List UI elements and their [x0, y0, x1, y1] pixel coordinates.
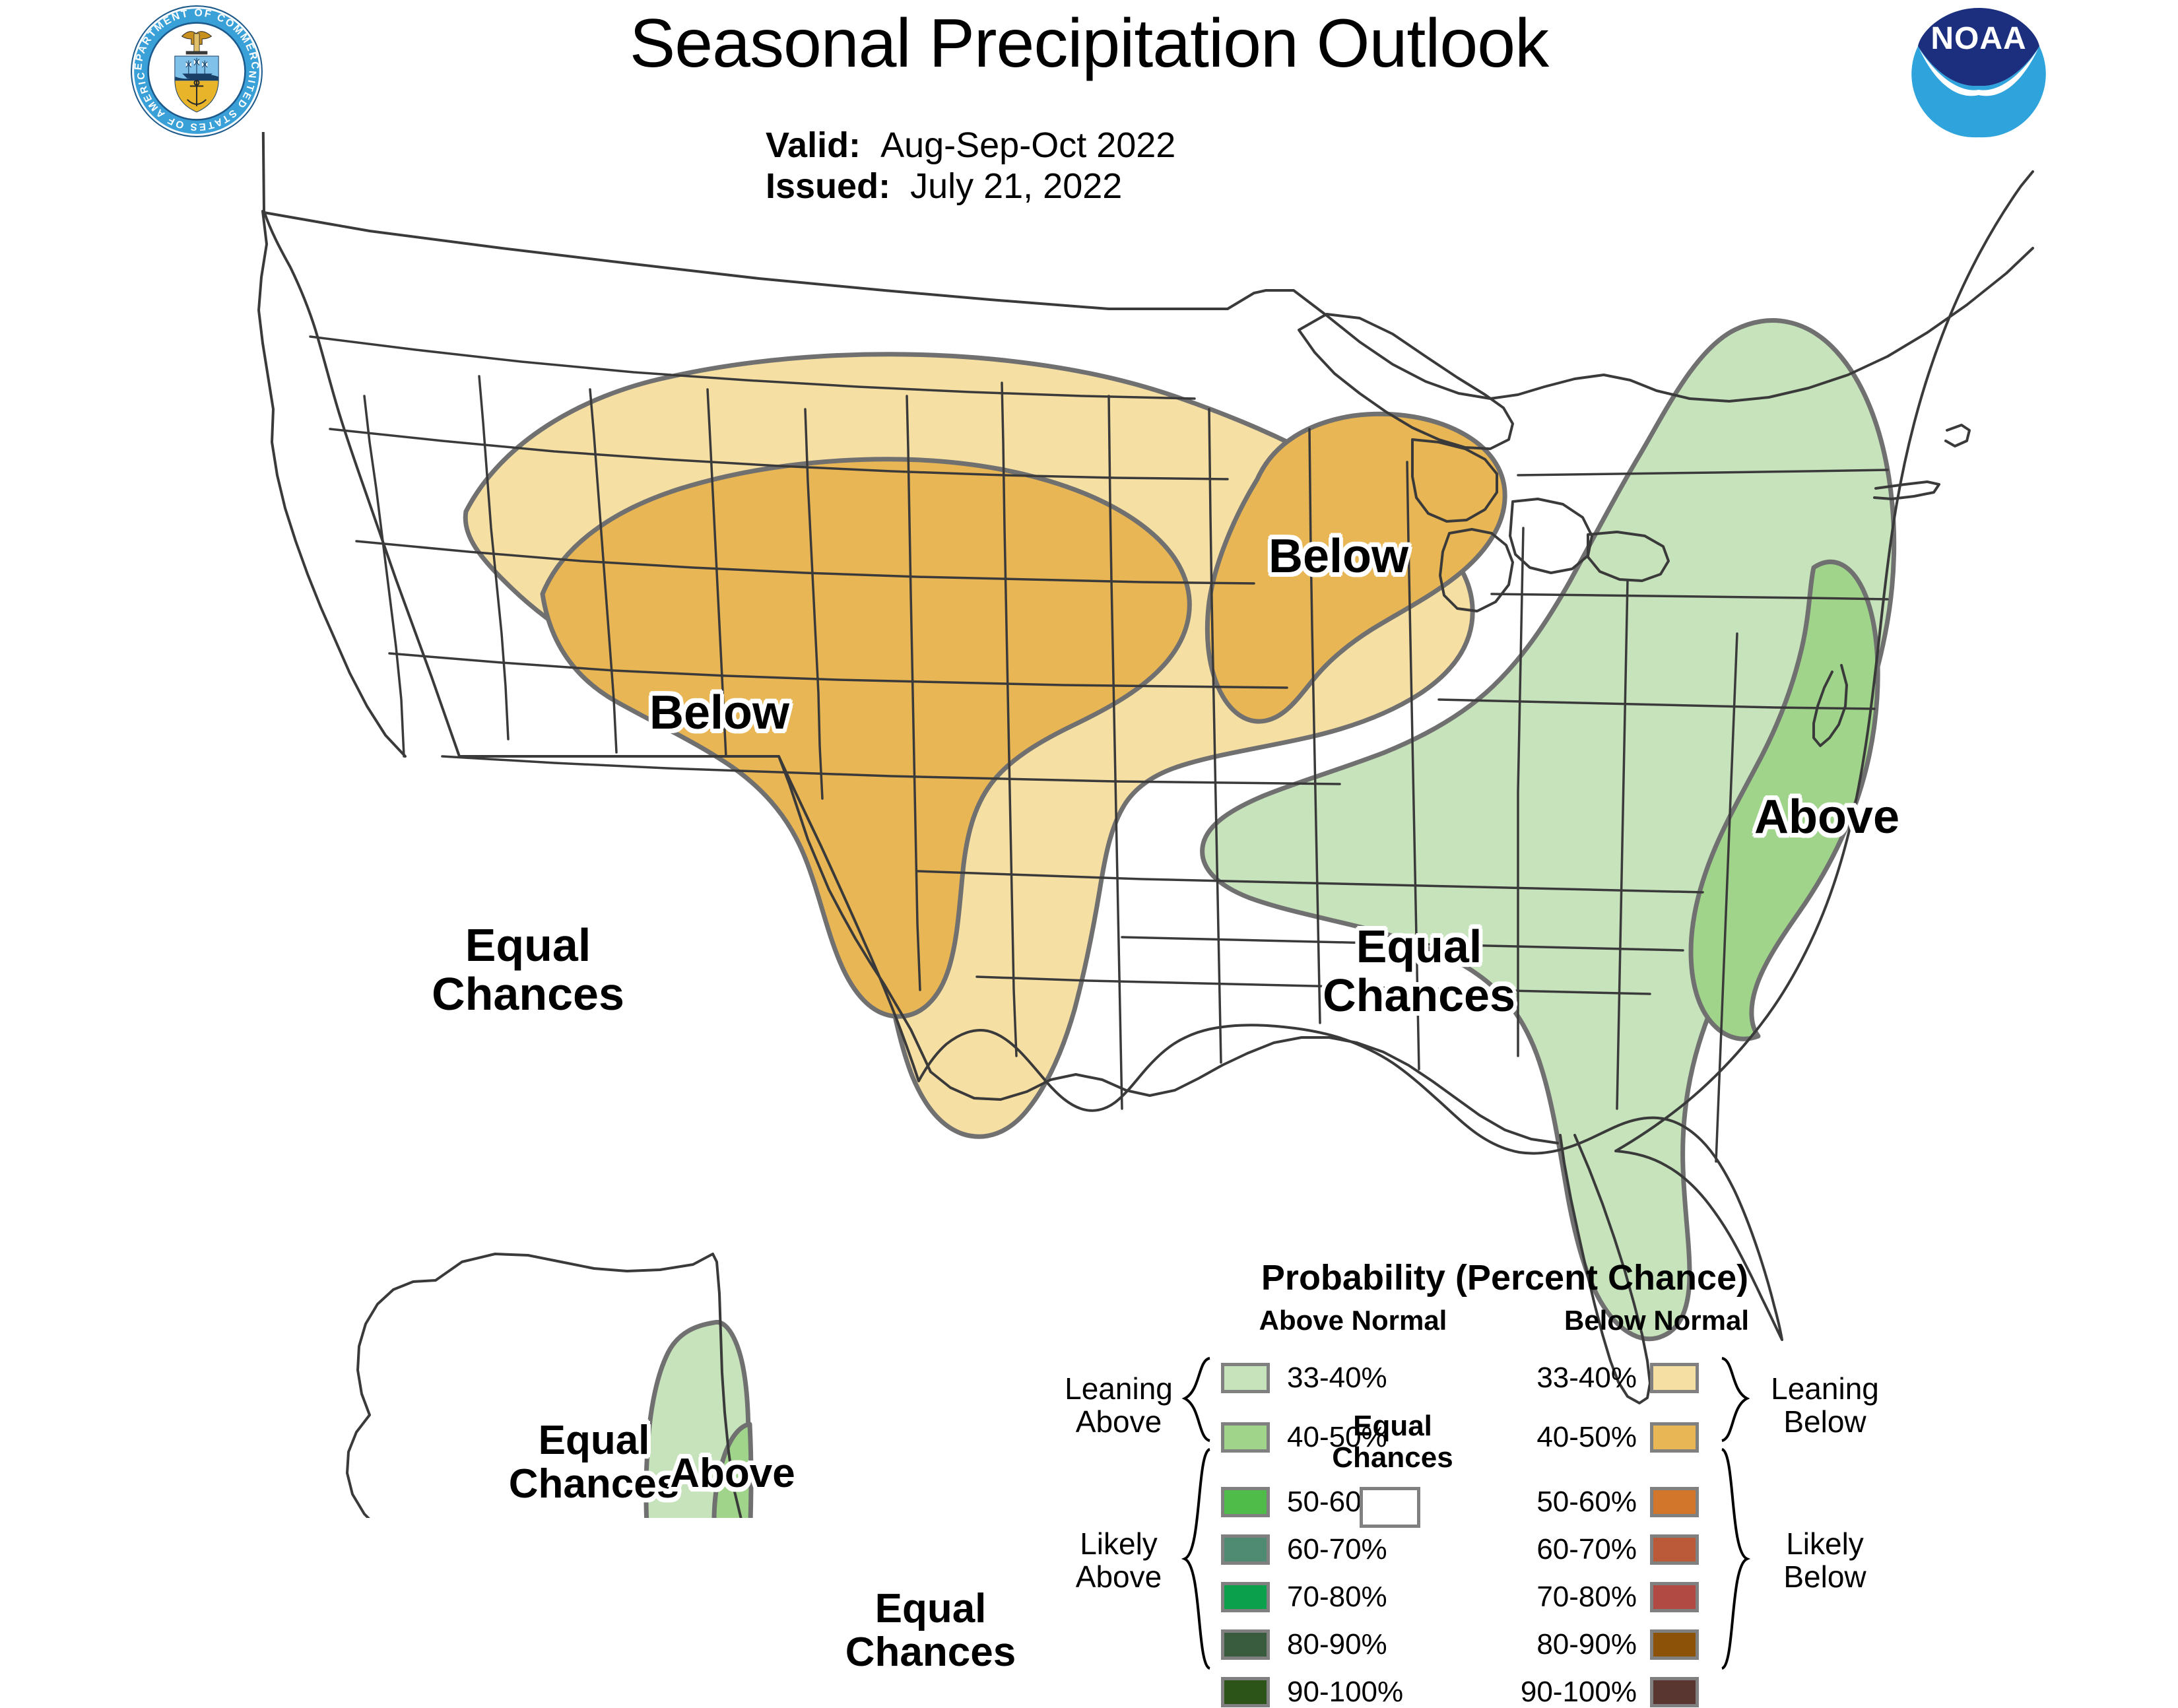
brace-likely-above — [1178, 1447, 1212, 1670]
legend: Probability (Percent Chance) Above Norma… — [1016, 1257, 1980, 1680]
legend-range-label: 50-60% — [1485, 1487, 1637, 1517]
legend-swatch-40-50 — [1221, 1422, 1270, 1453]
legend-label-equal-chances: EqualChances — [1317, 1410, 1468, 1474]
legend-range-label: 90-100% — [1287, 1677, 1403, 1707]
legend-label-likely-above: LikelyAbove — [1056, 1528, 1181, 1593]
page-title: Seasonal Precipitation Outlook — [0, 9, 2178, 78]
legend-label-leaning-below: LeaningBelow — [1759, 1373, 1891, 1438]
legend-header-above-normal: Above Normal — [1214, 1305, 1492, 1336]
legend-swatch-60-70 — [1650, 1534, 1699, 1565]
map-label-above-east: Above — [1695, 792, 1959, 842]
map-label-above-alaska: Above — [634, 1452, 832, 1495]
legend-swatch-60-70 — [1221, 1534, 1270, 1565]
legend-swatch-50-60 — [1650, 1487, 1699, 1517]
map-label-equal-chances-west: EqualChances — [383, 921, 673, 1018]
legend-range-label: 60-70% — [1287, 1534, 1387, 1565]
legend-label-likely-below: LikelyBelow — [1759, 1528, 1891, 1593]
legend-swatch-90-100 — [1650, 1677, 1699, 1707]
brace-likely-below — [1719, 1447, 1754, 1670]
legend-range-label: 90-100% — [1485, 1677, 1637, 1707]
legend-swatch-80-90 — [1650, 1629, 1699, 1660]
map-label-below-great-lakes: Below — [1206, 531, 1470, 581]
brace-leaning-below — [1719, 1356, 1754, 1443]
map-label-equal-chances-east: EqualChances — [1274, 922, 1564, 1020]
legend-range-label: 33-40% — [1485, 1363, 1637, 1393]
legend-swatch-70-80 — [1221, 1582, 1270, 1612]
legend-swatch-70-80 — [1650, 1582, 1699, 1612]
legend-range-label: 60-70% — [1485, 1534, 1637, 1565]
legend-label-leaning-above: LeaningAbove — [1056, 1373, 1181, 1438]
legend-range-label: 40-50% — [1485, 1422, 1637, 1453]
legend-range-label: 70-80% — [1287, 1582, 1387, 1612]
legend-range-label: 33-40% — [1287, 1363, 1387, 1393]
legend-swatch-50-60 — [1221, 1487, 1270, 1517]
brace-leaning-above — [1178, 1356, 1212, 1443]
legend-swatch-80-90 — [1221, 1629, 1270, 1660]
legend-title: Probability (Percent Chance) — [1221, 1257, 1789, 1298]
legend-swatch-33-40 — [1221, 1363, 1270, 1393]
legend-swatch-40-50 — [1650, 1422, 1699, 1453]
legend-swatch-equal-chances — [1360, 1487, 1420, 1528]
legend-range-label: 80-90% — [1287, 1629, 1387, 1660]
legend-range-label: 80-90% — [1485, 1629, 1637, 1660]
legend-header-below-normal: Below Normal — [1518, 1305, 1795, 1336]
legend-swatch-90-100 — [1221, 1677, 1270, 1707]
legend-range-label: 70-80% — [1485, 1582, 1637, 1612]
legend-swatch-33-40 — [1650, 1363, 1699, 1393]
map-label-below-west: Below — [581, 688, 858, 738]
